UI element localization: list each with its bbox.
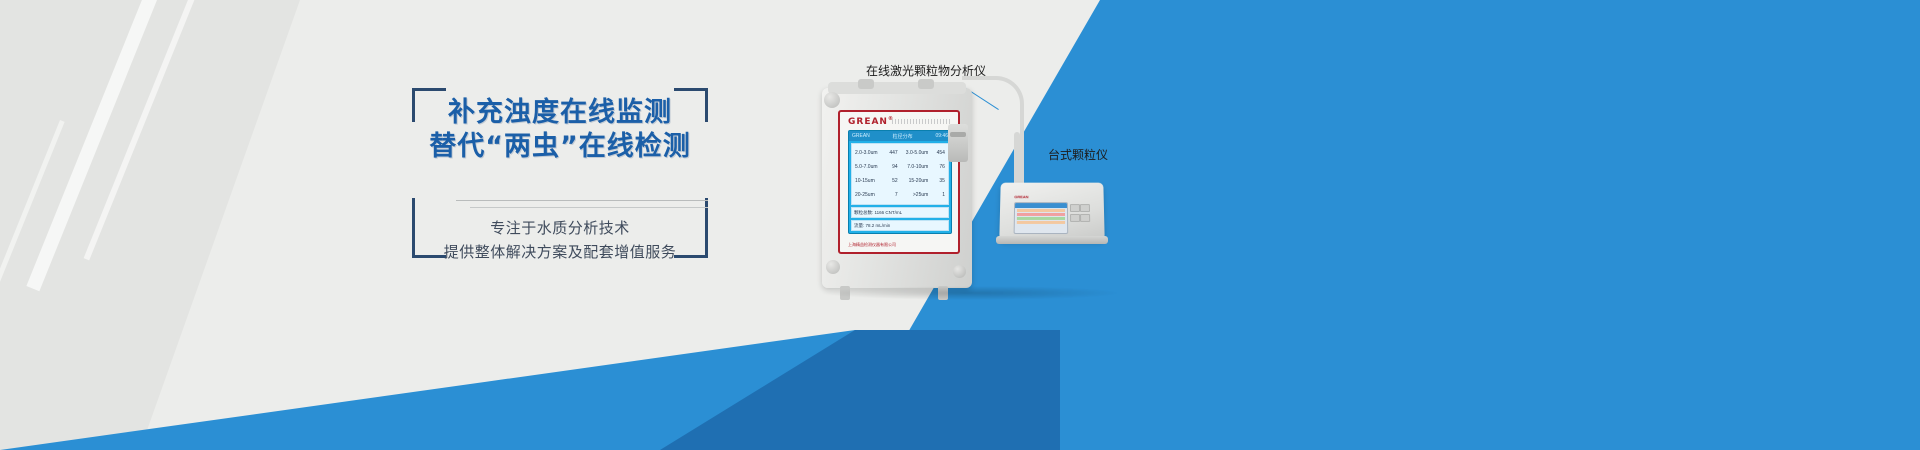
- cell-count-b: 1: [931, 192, 945, 198]
- display-title-center: 粒径分布: [893, 133, 913, 140]
- cell-range-a: 20-25um: [855, 192, 881, 198]
- bench-housing: GREAN: [999, 183, 1104, 240]
- cell-count-b: 76: [931, 164, 945, 170]
- bracket-top-right-h: [674, 88, 708, 91]
- analyzer-top-cover: [828, 82, 966, 94]
- table-row: 20-25um 7 >25um 1: [855, 192, 945, 198]
- analyzer-latch-knob-top: [824, 92, 840, 108]
- analyzer-hinge-right: [918, 79, 934, 89]
- bench-key: [1080, 214, 1090, 222]
- headline: 补充浊度在线监测 替代“两虫”在线检测: [412, 96, 708, 164]
- subtitle-line-1: 专注于水质分析技术: [412, 216, 708, 240]
- display-data-grid: 2.0-3.0um 447 3.0-5.0um 454 5.0-7.0um 94…: [851, 143, 949, 205]
- cell-count-b: 35: [931, 178, 945, 184]
- table-row: 5.0-7.0um 94 7.0-10um 76: [855, 164, 945, 170]
- bench-display-row: [1017, 217, 1065, 220]
- analyzer-hinge-left: [858, 79, 874, 89]
- display-title-bar: GREAN 粒径分布 09:46: [849, 131, 951, 141]
- analyzer-front-panel: GREAN® GREAN 粒径分布 09:46 2.0-3.0um 447 3.…: [838, 110, 960, 254]
- cell-count-a: 7: [884, 192, 898, 198]
- cell-count-a: 94: [884, 164, 898, 170]
- bench-display-row: [1017, 221, 1065, 224]
- display-title-left: GREAN: [852, 133, 870, 139]
- headline-card: 补充浊度在线监测 替代“两虫”在线检测 专注于水质分析技术 提供整体解决方案及配…: [412, 88, 708, 258]
- product-illustration: 在线激光颗粒物分析仪 台式颗粒仪 GREAN® GREAN: [800, 40, 1200, 310]
- divider-line-2: [470, 207, 708, 208]
- analyzer-side-connector: [948, 124, 968, 162]
- panel-company-caption: 上海精益检测仪器有限公司: [848, 242, 896, 248]
- cell-range-b: 15-20um: [900, 178, 928, 184]
- bracket-top-left-h: [412, 88, 446, 91]
- cell-range-b: >25um: [900, 192, 928, 198]
- panel-vent-hatching: [892, 119, 952, 124]
- analyzer-side-connector-ring: [950, 132, 966, 137]
- brand-logo-bench: GREAN: [1014, 194, 1028, 199]
- bench-key: [1070, 214, 1080, 222]
- cell-range-b: 3.0-5.0um: [900, 150, 928, 156]
- bench-display: [1014, 202, 1069, 234]
- analyzer-latch-knob-right: [953, 265, 966, 278]
- display-total-count: 颗粒总数: 1166 CNT/mL: [851, 207, 949, 218]
- cell-range-a: 10-15um: [855, 178, 881, 184]
- cell-range-a: 2.0-3.0um: [855, 150, 881, 156]
- product-shadow: [820, 286, 1120, 300]
- brand-logo-analyzer: GREAN®: [848, 116, 894, 127]
- analyzer-latch-knob-bottom: [826, 260, 840, 274]
- table-row: 2.0-3.0um 447 3.0-5.0um 454: [855, 150, 945, 156]
- table-row: 10-15um 52 15-20um 35: [855, 178, 945, 184]
- callout-label-bench: 台式颗粒仪: [1048, 146, 1108, 163]
- bench-display-row: [1017, 213, 1065, 216]
- display-title-right: 09:46: [935, 133, 948, 139]
- bench-display-rows: [1015, 208, 1067, 225]
- cell-count-b: 454: [931, 150, 945, 156]
- cell-count-a: 52: [884, 178, 898, 184]
- bench-key: [1080, 204, 1090, 212]
- subtitle-line-2: 提供整体解决方案及配套增值服务: [412, 240, 708, 264]
- display-flow-rate: 流量: 78.2 mL/min: [851, 220, 949, 231]
- headline-line-1: 补充浊度在线监测: [448, 97, 672, 128]
- bench-keypad: [1070, 204, 1088, 222]
- benchtop-particle-counter: GREAN: [1000, 170, 1110, 250]
- brand-text: GREAN: [848, 117, 888, 127]
- cell-count-a: 447: [884, 150, 898, 156]
- analyzer-display: GREAN 粒径分布 09:46 2.0-3.0um 447 3.0-5.0um…: [848, 130, 952, 234]
- bench-base-plate: [996, 236, 1108, 244]
- headline-line-2: 替代“两虫”在线检测: [412, 130, 708, 164]
- online-laser-particle-analyzer: GREAN® GREAN 粒径分布 09:46 2.0-3.0um 447 3.…: [822, 88, 972, 288]
- promo-banner: 补充浊度在线监测 替代“两虫”在线检测 专注于水质分析技术 提供整体解决方案及配…: [0, 0, 1920, 450]
- divider-line-1: [456, 200, 708, 201]
- cell-range-b: 7.0-10um: [900, 164, 928, 170]
- cell-range-a: 5.0-7.0um: [855, 164, 881, 170]
- bench-key: [1070, 204, 1080, 212]
- bench-display-row: [1017, 209, 1065, 212]
